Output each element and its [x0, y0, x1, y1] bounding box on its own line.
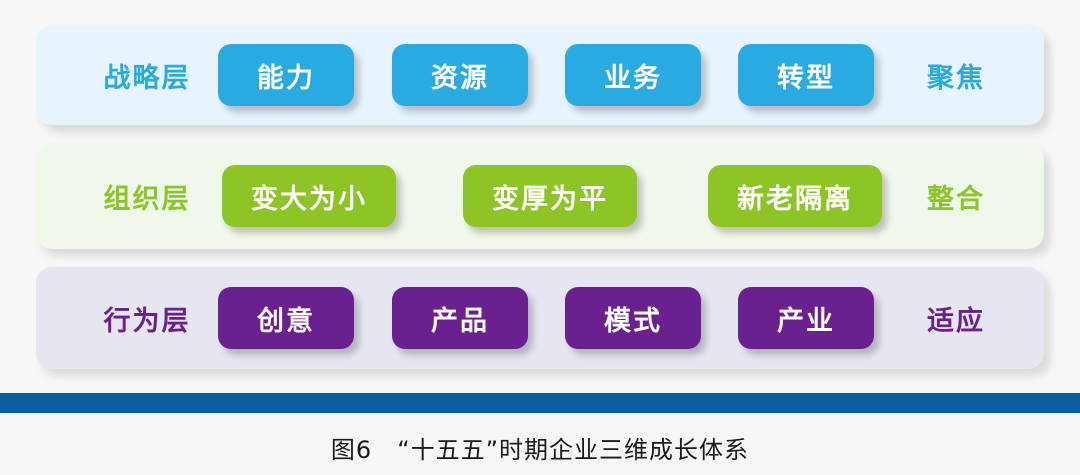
chip-strategy-transformation[interactable]: 转型: [738, 44, 874, 106]
figure-caption: 图6 “十五五”时期企业三维成长体系: [0, 430, 1080, 465]
layer-label-organization-right: 整合: [886, 177, 1026, 216]
layer-row-strategy: 战略层 能力 资源 业务 转型 聚焦: [36, 25, 1044, 125]
chip-organization-old-new-separation[interactable]: 新老隔离: [708, 165, 882, 227]
layer-label-behavior-left: 行为层: [72, 299, 222, 338]
chip-behavior-model[interactable]: 模式: [565, 287, 701, 349]
layer-label-organization-left: 组织层: [72, 177, 222, 216]
chip-behavior-product[interactable]: 产品: [392, 287, 528, 349]
horizontal-rule-bar: [0, 393, 1080, 413]
chip-strategy-capability[interactable]: 能力: [218, 44, 354, 106]
chip-strategy-business[interactable]: 业务: [565, 44, 701, 106]
figure-root: 战略层 能力 资源 业务 转型 聚焦 组织层 变大为小 变厚为平 新老隔离 整合…: [0, 0, 1080, 475]
layer-label-behavior-right: 适应: [886, 299, 1026, 338]
layer-row-behavior: 行为层 创意 产品 模式 产业 适应: [36, 267, 1044, 369]
chip-strategy-resource[interactable]: 资源: [392, 44, 528, 106]
chip-organization-big-to-small[interactable]: 变大为小: [222, 165, 396, 227]
chip-behavior-creativity[interactable]: 创意: [218, 287, 354, 349]
layer-label-strategy-right: 聚焦: [886, 56, 1026, 95]
chip-behavior-industry[interactable]: 产业: [738, 287, 874, 349]
layer-label-strategy-left: 战略层: [72, 56, 222, 95]
layer-row-organization: 组织层 变大为小 变厚为平 新老隔离 整合: [36, 143, 1044, 249]
three-dimensional-growth-diagram: 战略层 能力 资源 业务 转型 聚焦 组织层 变大为小 变厚为平 新老隔离 整合…: [0, 0, 1080, 390]
chip-organization-thick-to-flat[interactable]: 变厚为平: [463, 165, 637, 227]
